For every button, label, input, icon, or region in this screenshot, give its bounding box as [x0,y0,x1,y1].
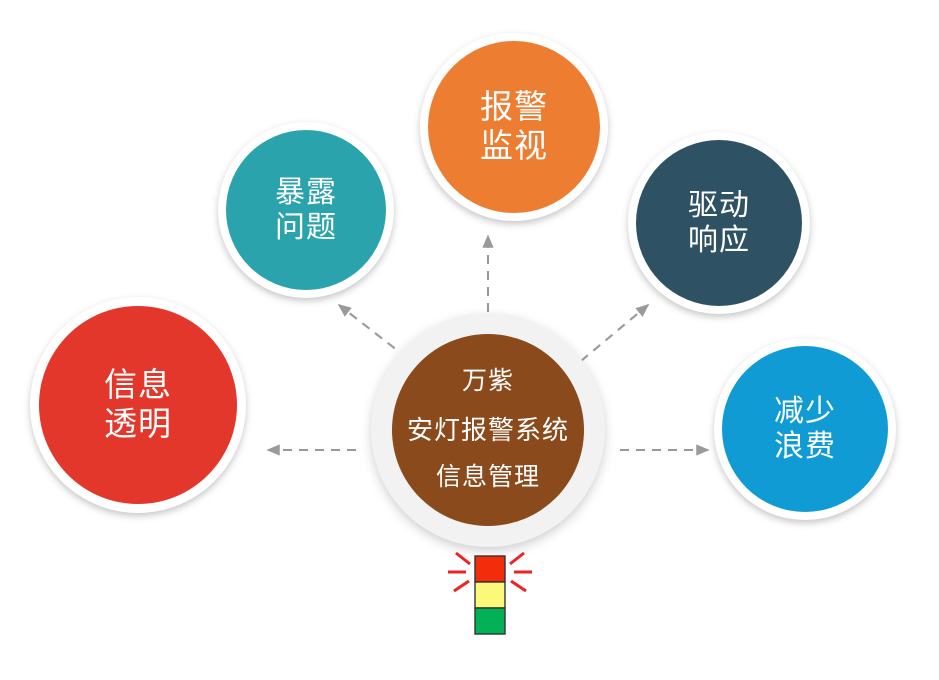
flash-ray-right-lower [511,581,526,591]
node-alarm-label-line-1: 报警 [480,88,548,127]
node-alarm-monitoring[interactable]: 报警 监视 [428,41,600,213]
connector-arrow-up-right [581,305,648,361]
node-drive-label-line-1: 驱动 [688,188,750,223]
node-waste-label-line-2: 浪费 [774,429,836,464]
andon-lamp-red [475,556,505,582]
flash-ray-right-upper [510,553,524,564]
flash-ray-left-upper [456,553,470,564]
andon-lamp-green [475,608,505,634]
node-alarm-label-line-2: 监视 [480,127,548,166]
node-info-label-line-1: 信息 [104,366,172,405]
node-reduce-waste[interactable]: 减少 浪费 [722,346,888,512]
node-expose-label-line-2: 问题 [275,210,337,245]
node-drive-label-line-2: 响应 [688,223,750,258]
node-expose-problems[interactable]: 暴露 问题 [226,130,386,290]
center-node-label-line-1: 万紫 [462,367,514,397]
node-info-label-line-2: 透明 [104,405,172,444]
andon-lamp-yellow [475,582,505,608]
andon-stack-light [440,548,540,648]
center-node-andon-system[interactable]: 万紫 安灯报警系统 信息管理 [392,334,584,526]
node-information-transparency[interactable]: 信息 透明 [39,306,237,504]
node-expose-label-line-1: 暴露 [275,175,337,210]
node-drive-response[interactable]: 驱动 响应 [636,140,802,306]
center-node-label-line-2: 安灯报警系统 [407,415,569,446]
flash-ray-left-lower [454,581,469,591]
center-node-label-line-3: 信息管理 [436,463,540,493]
diagram-canvas: 万紫 安灯报警系统 信息管理 报警 监视 暴露 问题 驱动 响应 信息 透明 减… [0,0,939,680]
node-waste-label-line-1: 减少 [774,394,836,429]
